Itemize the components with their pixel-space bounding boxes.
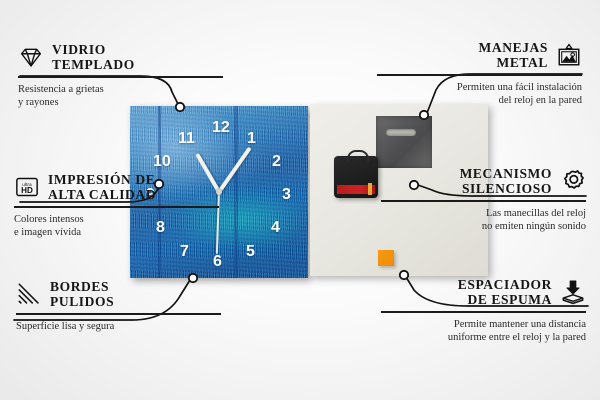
feature-divider — [377, 74, 582, 76]
feature-description: Permiten una fácil instalación del reloj… — [377, 81, 582, 108]
clock-numeral-3: 3 — [282, 187, 291, 203]
feature-description: Colores intensos e imagen vívida — [14, 213, 219, 240]
feature-impresion-alta-calidad: ultra HD IMPRESIÓN DEALTA CALIDAD Colore… — [14, 172, 219, 240]
clock-numeral-11: 11 — [178, 131, 195, 147]
feature-heading: ESPACIADORDE ESPUMA — [381, 277, 586, 307]
feature-divider — [381, 200, 586, 202]
feature-description: Resistencia a grietas y rayones — [18, 83, 223, 110]
feature-description: Superficie lisa y segura — [16, 320, 221, 333]
clock-numeral-1: 1 — [247, 131, 256, 147]
svg-text:HD: HD — [21, 186, 33, 195]
feature-divider — [381, 311, 586, 313]
feature-heading: MECANISMOSILENCIOSO — [381, 166, 586, 196]
feature-vidrio-templado: VIDRIOTEMPLADO Resistencia a grietas y r… — [18, 42, 223, 110]
clock-numeral-7: 7 — [180, 244, 189, 260]
feature-description: Las manecillas del reloj no emiten ningú… — [381, 207, 586, 234]
clock-numeral-5: 5 — [246, 244, 255, 260]
feature-title: MANEJASMETAL — [479, 40, 548, 70]
polished-edge-icon — [16, 281, 42, 307]
foam-spacer — [378, 250, 394, 266]
feature-heading: ultra HD IMPRESIÓN DEALTA CALIDAD — [14, 172, 219, 202]
arrow-down-layer-icon — [560, 279, 586, 305]
picture-hanger-icon — [556, 42, 582, 68]
clock-numeral-2: 2 — [272, 154, 281, 170]
feature-title: VIDRIOTEMPLADO — [52, 42, 135, 72]
hanger-slot — [386, 129, 416, 136]
infographic-canvas: 12 1 2 3 4 5 6 7 8 9 10 11 — [0, 0, 600, 400]
gear-icon — [560, 168, 586, 194]
clock-numeral-12: 12 — [212, 120, 230, 136]
feature-espaciador-de-espuma: ESPACIADORDE ESPUMA Permite mantener una… — [381, 277, 586, 345]
ultra-hd-badge-icon: ultra HD — [14, 174, 40, 200]
clock-numeral-10: 10 — [153, 154, 171, 170]
feature-mecanismo-silencioso: MECANISMOSILENCIOSO Las manecillas del r… — [381, 166, 586, 234]
clock-mechanism — [334, 156, 378, 198]
clock-numeral-6: 6 — [213, 254, 222, 270]
feature-divider — [18, 76, 223, 78]
diamond-icon — [18, 44, 44, 70]
feature-heading: BORDESPULIDOS — [16, 279, 221, 309]
feature-title: MECANISMOSILENCIOSO — [460, 166, 552, 196]
metal-hanger-plate — [376, 116, 432, 168]
feature-title: ESPACIADORDE ESPUMA — [458, 277, 552, 307]
feature-title: BORDESPULIDOS — [50, 279, 114, 309]
feature-heading: VIDRIOTEMPLADO — [18, 42, 223, 72]
mechanism-hook — [347, 150, 369, 162]
clock-numeral-4: 4 — [271, 220, 280, 236]
feature-description: Permite mantener una distancia uniforme … — [381, 318, 586, 345]
feature-divider — [14, 206, 219, 208]
feature-title: IMPRESIÓN DEALTA CALIDAD — [48, 172, 156, 202]
feature-manejas-metal: MANEJASMETAL Permiten una fácil instalac… — [377, 40, 582, 108]
mechanism-marker — [368, 183, 372, 195]
feature-divider — [16, 313, 221, 315]
feature-bordes-pulidos: BORDESPULIDOS Superficie lisa y segura — [16, 279, 221, 333]
feature-heading: MANEJASMETAL — [377, 40, 582, 70]
